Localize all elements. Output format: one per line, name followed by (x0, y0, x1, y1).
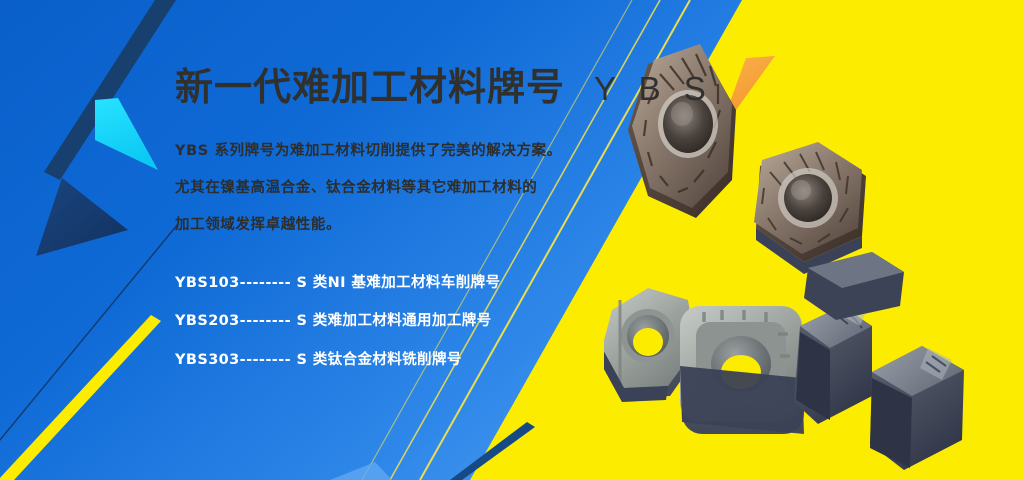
banner-text-column: 新一代难加工材料牌号 Y B S YBS 系列牌号为难加工材料切削提供了完美的解… (175, 62, 645, 390)
yellow-stripe-lower-left (0, 315, 161, 480)
navy-stripe-bottom (450, 422, 535, 480)
navy-triangle-mid-left (36, 178, 128, 256)
orange-triangle (718, 56, 775, 135)
model-row-ybs103: YBS103-------- S 类NI 基难加工材料车削牌号 (175, 275, 645, 292)
rear-grooving-insert (804, 252, 904, 320)
navy-hairline-left (0, 224, 178, 452)
navy-stripe-top-left (44, 0, 176, 180)
model-row-ybs203: YBS203-------- S 类难加工材料通用加工牌号 (175, 313, 645, 330)
headline-chinese: 新一代难加工材料牌号 (175, 66, 565, 110)
description-line-2: 尤其在镍基高温合金、钛合金材料等其它难加工材料的 (175, 180, 645, 197)
cyan-triangle-upper (95, 98, 158, 170)
banner-headline: 新一代难加工材料牌号 Y B S (175, 62, 645, 110)
light-blue-triangle-bottom (330, 462, 392, 480)
ybs-product-banner: 新一代难加工材料牌号 Y B S YBS 系列牌号为难加工材料切削提供了完美的解… (0, 0, 1024, 480)
banner-description: YBS 系列牌号为难加工材料切削提供了完美的解决方案。 尤其在镍基高温合金、钛合… (175, 143, 645, 235)
square-insert-serrations (704, 310, 790, 414)
headline-english: Y B S (594, 70, 713, 108)
grooving-insert-right (870, 346, 964, 470)
grade-model-list: YBS103-------- S 类NI 基难加工材料车削牌号 YBS203--… (175, 275, 645, 369)
model-row-ybs303: YBS303-------- S 类钛合金材料铣削牌号 (175, 352, 645, 369)
diamond-turning-insert (754, 142, 866, 274)
description-line-1: YBS 系列牌号为难加工材料切削提供了完美的解决方案。 (175, 143, 645, 160)
square-milling-insert (680, 306, 804, 434)
grooving-insert-left (794, 304, 872, 424)
description-line-3: 加工领域发挥卓越性能。 (175, 217, 645, 234)
